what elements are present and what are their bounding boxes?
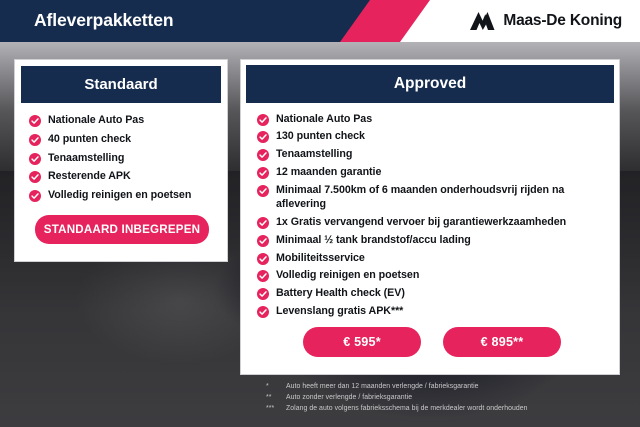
footnotes: * Auto heeft meer dan 12 maanden verleng… <box>266 381 626 415</box>
list-item: Tenaamstelling <box>257 147 607 161</box>
list-item: Volledig reinigen en poetsen <box>257 268 607 282</box>
maas-de-koning-m-logo-icon <box>469 11 495 31</box>
standaard-inbegrepen-button[interactable]: STANDAARD INBEGREPEN <box>35 215 209 244</box>
feature-label: Minimaal ½ tank brandstof/accu lading <box>276 233 471 247</box>
check-circle-icon <box>29 134 41 146</box>
feature-label: Battery Health check (EV) <box>276 286 405 300</box>
feature-label: Mobiliteitsservice <box>276 251 365 265</box>
feature-label: 40 punten check <box>48 132 131 146</box>
list-item: Resterende APK <box>29 169 217 183</box>
feature-label: Tenaamstelling <box>48 151 124 165</box>
check-circle-icon <box>29 115 41 127</box>
header-bar: Afleverpakketten Maas-De Koning <box>0 0 640 42</box>
footnote-1: * Auto heeft meer dan 12 maanden verleng… <box>266 381 626 392</box>
feature-label: Nationale Auto Pas <box>276 112 372 126</box>
footnote-text: Auto heeft meer dan 12 maanden verlengde… <box>286 381 479 392</box>
check-circle-icon <box>29 153 41 165</box>
footnote-marker: *** <box>266 403 280 414</box>
package-card-approved: Approved Nationale Auto Pas 130 punten c… <box>240 59 620 375</box>
package-body-approved: Nationale Auto Pas 130 punten check Tena… <box>241 103 619 368</box>
check-circle-icon <box>257 270 269 282</box>
feature-label: Resterende APK <box>48 169 131 183</box>
page-title: Afleverpakketten <box>34 10 173 31</box>
feature-label: 12 maanden garantie <box>276 165 381 179</box>
list-item: Mobiliteitsservice <box>257 251 607 265</box>
list-item: 1x Gratis vervangend vervoer bij garanti… <box>257 215 607 229</box>
check-circle-icon <box>257 288 269 300</box>
check-circle-icon <box>257 131 269 143</box>
check-circle-icon <box>29 190 41 202</box>
list-item: Nationale Auto Pas <box>257 112 607 126</box>
feature-label: 1x Gratis vervangend vervoer bij garanti… <box>276 215 566 229</box>
check-circle-icon <box>257 235 269 247</box>
footnote-marker: * <box>266 381 280 392</box>
list-item: Nationale Auto Pas <box>29 113 217 127</box>
feature-label: Tenaamstelling <box>276 147 352 161</box>
feature-list-approved: Nationale Auto Pas 130 punten check Tena… <box>257 112 607 319</box>
package-title-approved: Approved <box>246 65 614 103</box>
list-item: Levenslang gratis APK*** <box>257 304 607 318</box>
brand-name: Maas-De Koning <box>503 12 622 30</box>
list-item: 130 punten check <box>257 129 607 143</box>
afleverpakketten-page: Afleverpakketten Maas-De Koning Standaar… <box>0 0 640 427</box>
check-circle-icon <box>29 171 41 183</box>
list-item: Volledig reinigen en poetsen <box>29 188 217 202</box>
feature-label: Volledig reinigen en poetsen <box>276 268 419 282</box>
check-circle-icon <box>257 185 269 197</box>
package-body-standaard: Nationale Auto Pas 40 punten check Tenaa… <box>15 103 227 258</box>
feature-label: Nationale Auto Pas <box>48 113 144 127</box>
list-item: Battery Health check (EV) <box>257 286 607 300</box>
check-circle-icon <box>257 149 269 161</box>
footnote-text: Zolang de auto volgens fabrieksschema bi… <box>286 403 528 414</box>
check-circle-icon <box>257 217 269 229</box>
price-button-row: € 595* € 895** <box>257 327 607 361</box>
footnote-marker: ** <box>266 392 280 403</box>
list-item: Minimaal ½ tank brandstof/accu lading <box>257 233 607 247</box>
footnote-3: *** Zolang de auto volgens fabrieksschem… <box>266 403 626 414</box>
list-item: 40 punten check <box>29 132 217 146</box>
feature-label: Volledig reinigen en poetsen <box>48 188 191 202</box>
feature-label: Minimaal 7.500km of 6 maanden onderhouds… <box>276 183 607 212</box>
check-circle-icon <box>257 114 269 126</box>
footnote-text: Auto zonder verlengde / fabrieksgarantie <box>286 392 412 403</box>
check-circle-icon <box>257 306 269 318</box>
feature-label: 130 punten check <box>276 129 365 143</box>
package-title-standaard: Standaard <box>21 66 221 103</box>
brand-logo: Maas-De Koning <box>469 0 622 42</box>
footnote-2: ** Auto zonder verlengde / fabrieksgaran… <box>266 392 626 403</box>
feature-list-standaard: Nationale Auto Pas 40 punten check Tenaa… <box>29 113 217 203</box>
check-circle-icon <box>257 253 269 265</box>
price-button-595[interactable]: € 595* <box>303 327 421 357</box>
list-item: Tenaamstelling <box>29 151 217 165</box>
list-item: 12 maanden garantie <box>257 165 607 179</box>
package-card-standaard: Standaard Nationale Auto Pas 40 punten c… <box>14 59 228 262</box>
price-button-895[interactable]: € 895** <box>443 327 561 357</box>
list-item: Minimaal 7.500km of 6 maanden onderhouds… <box>257 183 607 212</box>
feature-label: Levenslang gratis APK*** <box>276 304 403 318</box>
check-circle-icon <box>257 167 269 179</box>
